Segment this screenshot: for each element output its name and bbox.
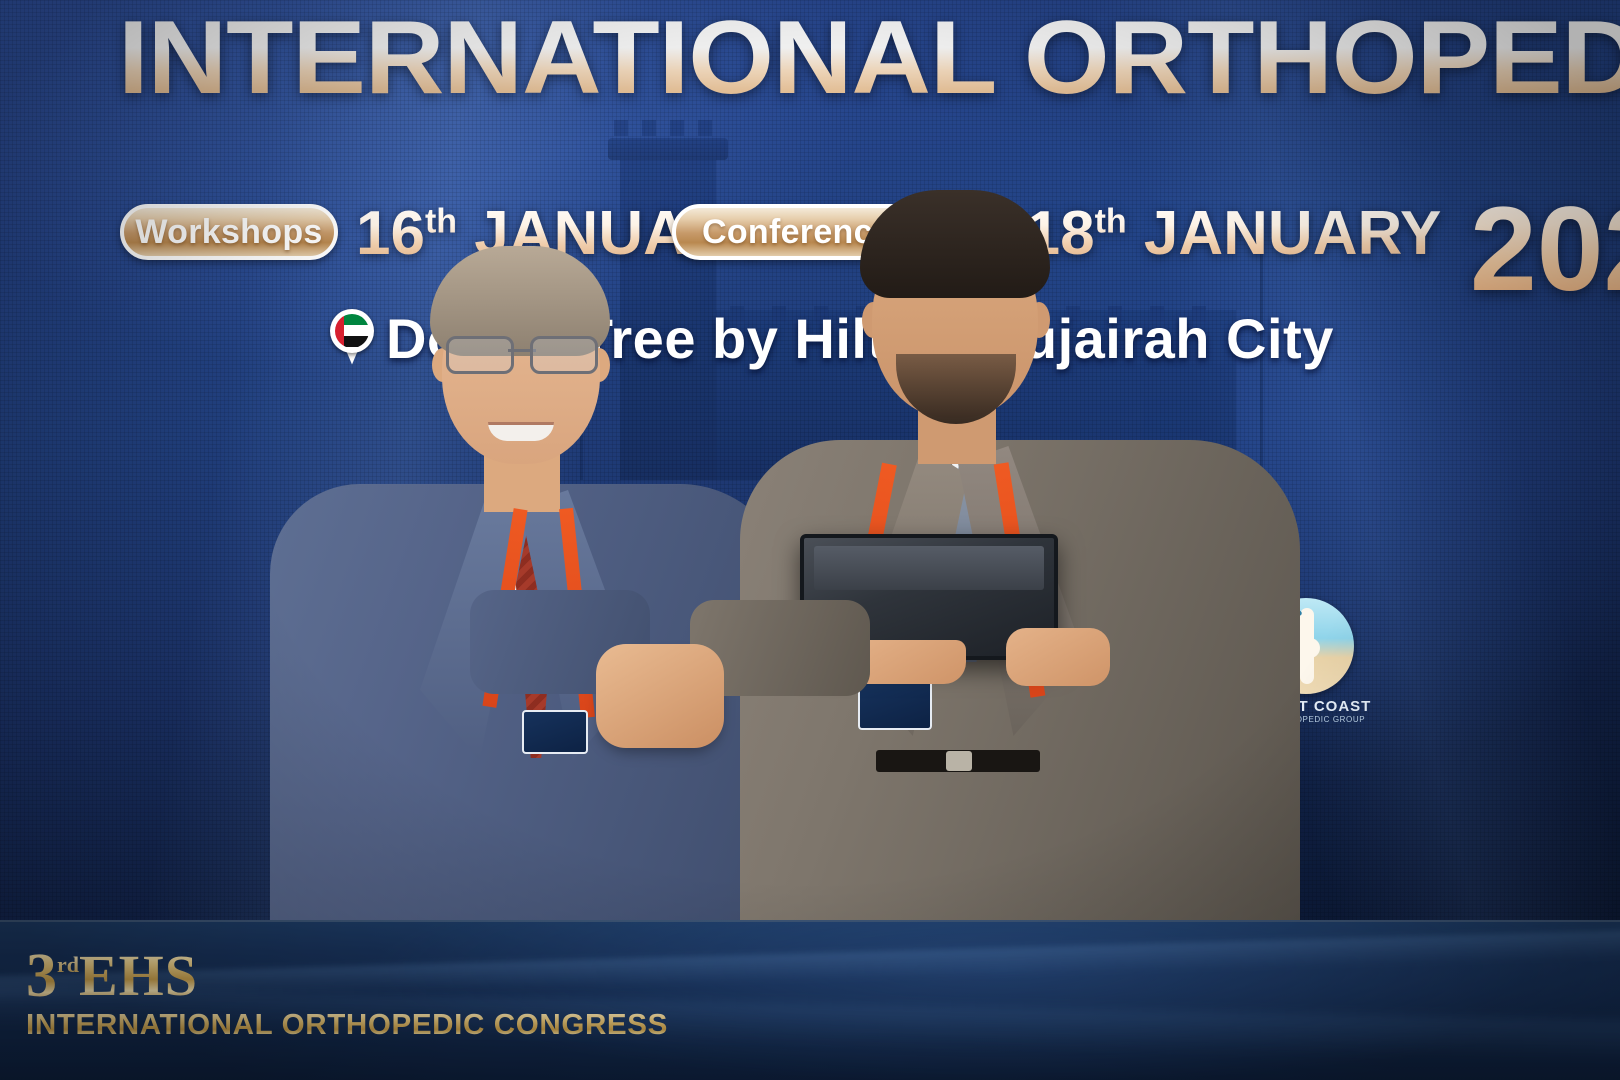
workshops-ordinal: th — [425, 202, 457, 240]
man-in-blue-suit-with-glasses — [270, 240, 790, 920]
ehs-logo-ordinal: rd — [57, 954, 79, 976]
ehs-logo-word: EHS — [79, 948, 198, 1004]
screenshot-root: INTERNATIONAL ORTHOPEDIC CONGRESS Worksh… — [0, 0, 1620, 1080]
congress-headline: INTERNATIONAL ORTHOPEDIC CONGRESS — [118, 6, 1620, 110]
congress-year: 2026 — [1470, 180, 1620, 318]
handshake-grip — [596, 644, 724, 748]
ehs-logo-number: 3 — [26, 948, 57, 1005]
eyeglasses — [446, 336, 598, 370]
name-badge — [858, 680, 932, 730]
name-badge — [522, 710, 588, 754]
event-footer-banner: 3 rd EHS INTERNATIONAL ORTHOPEDIC CONGRE… — [0, 920, 1620, 1080]
ehs-logo-subtitle: INTERNATIONAL ORTHOPEDIC CONGRESS — [26, 1009, 668, 1042]
hand-right-side-plaque — [1006, 628, 1110, 686]
ehs-congress-logo: 3 rd EHS INTERNATIONAL ORTHOPEDIC CONGRE… — [26, 948, 655, 1042]
